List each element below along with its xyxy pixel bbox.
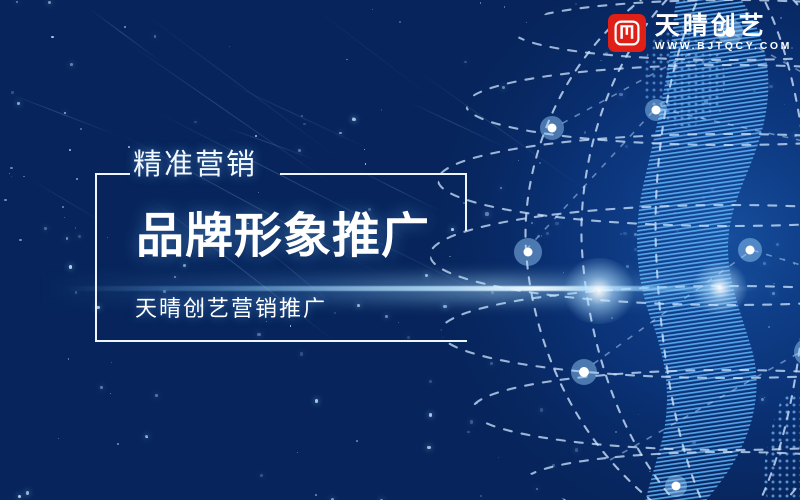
light-streak: [89, 8, 162, 62]
logo-mark-icon: [608, 14, 646, 52]
headline-block: 精准营销 品牌形象推广 天晴创艺营销推广: [95, 173, 467, 342]
brand-logo[interactable]: 天晴创艺 WWW.BJTQCY.COM: [608, 14, 792, 52]
light-streak: [307, 3, 441, 105]
light-streak: [6, 92, 120, 137]
eyebrow-text: 精准营销: [133, 151, 257, 180]
beam-flare: [560, 258, 638, 324]
headline-text: 品牌形象推广: [136, 213, 430, 261]
frame-right-edge: [465, 173, 467, 231]
logo-website-url: WWW.BJTQCY.COM: [655, 41, 792, 52]
frame-top-right-segment: [280, 173, 467, 175]
frame-top-left-segment: [95, 173, 130, 175]
logo-text-group: 天晴创艺 WWW.BJTQCY.COM: [655, 14, 792, 52]
frame-bottom-edge: [95, 340, 467, 342]
beam-flare-secondary: [690, 262, 750, 314]
logo-company-name: 天晴创艺: [655, 14, 792, 39]
subline-text: 天晴创艺营销推广: [135, 298, 327, 320]
light-streak: [136, 7, 347, 165]
light-streak: [410, 102, 507, 148]
frame-left-edge: [95, 173, 97, 342]
marketing-banner: 精准营销 品牌形象推广 天晴创艺营销推广 天晴创艺 WWW.BJTQCY.COM: [0, 0, 800, 500]
